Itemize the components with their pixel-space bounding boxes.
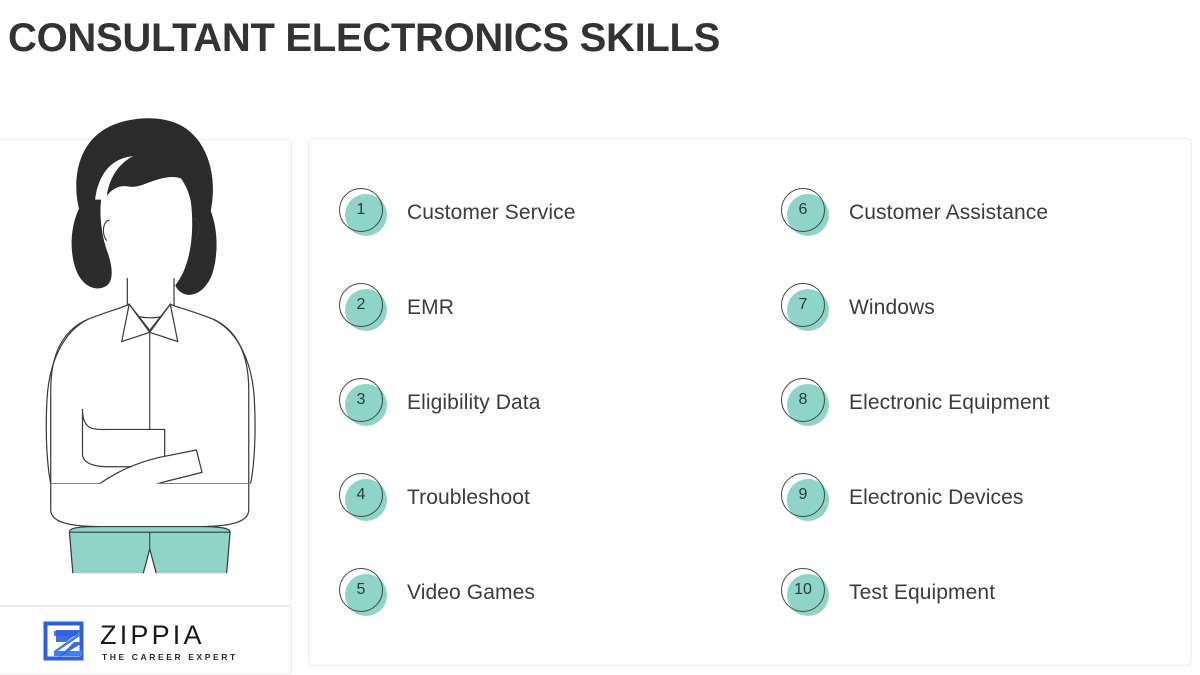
skill-item: 1Customer Service	[309, 165, 751, 260]
infographic-page: CONSULTANT ELECTRONICS SKILLS	[0, 0, 1200, 675]
zippia-logo-text: ZIPPIA THE CAREER EXPERT	[100, 620, 238, 662]
skill-label: Eligibility Data	[407, 391, 541, 415]
skill-number: 8	[781, 378, 825, 422]
illustration-panel	[0, 139, 292, 606]
skill-number: 4	[339, 473, 383, 517]
skill-label: Customer Service	[407, 201, 575, 225]
skill-item: 6Customer Assistance	[751, 165, 1193, 260]
skill-item: 3Eligibility Data	[309, 355, 751, 450]
skill-item: 9Electronic Devices	[751, 451, 1193, 546]
skill-number-badge: 3	[339, 378, 389, 428]
skill-item: 8Electronic Equipment	[751, 355, 1193, 450]
skill-label: Test Equipment	[849, 581, 995, 605]
skill-number-badge: 9	[781, 473, 831, 523]
skill-number: 10	[781, 568, 825, 612]
skill-label: Windows	[849, 296, 935, 320]
skill-number-badge: 4	[339, 473, 389, 523]
skill-number-badge: 1	[339, 188, 389, 238]
skill-number: 6	[781, 188, 825, 232]
skill-item: 2EMR	[309, 260, 751, 355]
skill-number: 2	[339, 283, 383, 327]
skill-number: 1	[339, 188, 383, 232]
skill-number-badge: 8	[781, 378, 831, 428]
skill-item: 7Windows	[751, 260, 1193, 355]
skill-item: 10Test Equipment	[751, 546, 1193, 641]
skill-label: EMR	[407, 296, 454, 320]
skill-number: 3	[339, 378, 383, 422]
skill-number: 7	[781, 283, 825, 327]
skill-number: 5	[339, 568, 383, 612]
skill-label: Customer Assistance	[849, 201, 1048, 225]
skill-item: 5Video Games	[309, 546, 751, 641]
skill-number-badge: 6	[781, 188, 831, 238]
zippia-logo[interactable]: ZIPPIA THE CAREER EXPERT	[0, 606, 292, 675]
skill-number-badge: 10	[781, 568, 831, 618]
skill-item: 4Troubleshoot	[309, 451, 751, 546]
skill-label: Video Games	[407, 581, 535, 605]
zippia-logo-icon	[42, 618, 88, 664]
skill-number-badge: 5	[339, 568, 389, 618]
skill-label: Troubleshoot	[407, 486, 530, 510]
zippia-wordmark: ZIPPIA	[100, 622, 238, 649]
zippia-tagline: THE CAREER EXPERT	[102, 653, 238, 662]
skills-card: 1Customer Service2EMR3Eligibility Data4T…	[308, 138, 1192, 666]
skill-label: Electronic Devices	[849, 486, 1024, 510]
skill-number: 9	[781, 473, 825, 517]
skill-label: Electronic Equipment	[849, 391, 1049, 415]
page-title: CONSULTANT ELECTRONICS SKILLS	[8, 14, 720, 62]
skill-number-badge: 7	[781, 283, 831, 333]
skill-number-badge: 2	[339, 283, 389, 333]
skills-list: 1Customer Service2EMR3Eligibility Data4T…	[309, 139, 1193, 667]
